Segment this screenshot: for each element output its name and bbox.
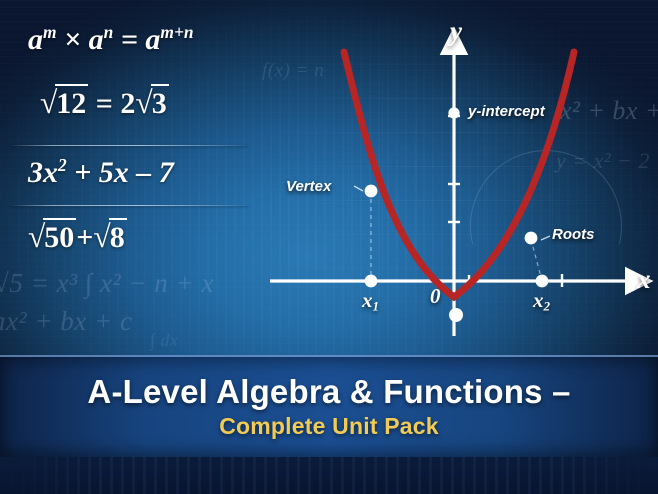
slide-canvas: √5 = x³ ∫ x² − n + x ax² + bx + c x² + b… <box>0 0 658 494</box>
x2-root-point[interactable] <box>536 275 549 288</box>
vertex-label: Vertex <box>286 178 331 195</box>
guide-lines <box>371 191 542 281</box>
x1-root-point[interactable] <box>365 275 378 288</box>
y-axis-label: y <box>450 16 462 47</box>
formula-quadratic-expression: 3x2 + 5x – 7 <box>28 155 174 190</box>
root-upper-point[interactable] <box>525 232 538 245</box>
formula-f3-term: 3x <box>28 156 58 189</box>
formula-f4-radical-8: √8 <box>93 218 126 255</box>
footer-texture <box>0 457 658 494</box>
roots-label: Roots <box>552 226 595 243</box>
banner-title: A-Level Algebra & Functions – <box>87 374 570 410</box>
formula-f1-equals: = <box>121 23 138 56</box>
graph-svg <box>262 0 658 352</box>
footer-strip <box>0 457 658 494</box>
formula-f4-radicand2: 8 <box>109 218 127 255</box>
formula-f1-base2: a <box>89 23 104 56</box>
formula-f2-radicand2: 3 <box>151 84 169 121</box>
x1-subscript: 1 <box>373 298 380 313</box>
title-banner: A-Level Algebra & Functions – Complete U… <box>0 355 658 459</box>
y-intercept-label: y-intercept <box>468 103 545 120</box>
formula-index-law: am × an = am+n <box>28 22 194 57</box>
true-vertex-point[interactable] <box>449 308 463 322</box>
formula-f3-exponent: 2 <box>58 155 67 175</box>
formula-divider-top <box>10 145 248 146</box>
formula-f1-base1: a <box>28 23 43 56</box>
x2-subscript: 2 <box>544 298 551 313</box>
formula-f4-plus: + <box>76 221 93 254</box>
x1-tick-label: x1 <box>362 288 379 314</box>
formula-f2-equals: = <box>96 87 113 120</box>
formula-surd-simplify: √12 = 2√3 <box>40 84 169 121</box>
origin-label: 0 <box>430 284 441 309</box>
formula-f1-exp-m: m <box>43 22 57 42</box>
formula-f2-radicand: 12 <box>55 84 88 121</box>
parabola-graph: y x Vertex y-intercept Roots x1 x2 0 <box>262 0 658 352</box>
x-axis-label: x <box>637 264 651 295</box>
formula-f2-radical-12: √12 <box>40 84 88 121</box>
formula-f1-exp-mn: m+n <box>160 22 193 42</box>
formula-divider-bottom <box>10 205 248 206</box>
formula-f1-times: × <box>64 23 81 56</box>
axis-ticks <box>448 116 562 288</box>
formula-f4-radical-50: √50 <box>28 218 76 255</box>
formula-f4-radicand: 50 <box>43 218 76 255</box>
formula-f3-rest: + 5x – 7 <box>74 156 174 189</box>
y-intercept-point[interactable] <box>448 107 459 118</box>
x1-letter: x <box>362 288 373 312</box>
parabola-curve <box>344 52 574 297</box>
formula-surd-addition: √50+√8 <box>28 218 127 255</box>
formula-f2-radical-3: √3 <box>135 84 168 121</box>
formula-f1-exp-n: n <box>104 22 114 42</box>
x2-tick-label: x2 <box>533 288 550 314</box>
banner-subtitle: Complete Unit Pack <box>219 413 439 440</box>
formula-column: am × an = am+n √12 = 2√3 3x2 + 5x – 7 √5… <box>0 0 262 350</box>
x2-letter: x <box>533 288 544 312</box>
formula-f1-base3: a <box>145 23 160 56</box>
formula-f2-coefficient: 2 <box>120 87 135 120</box>
vertex-point[interactable] <box>365 185 378 198</box>
